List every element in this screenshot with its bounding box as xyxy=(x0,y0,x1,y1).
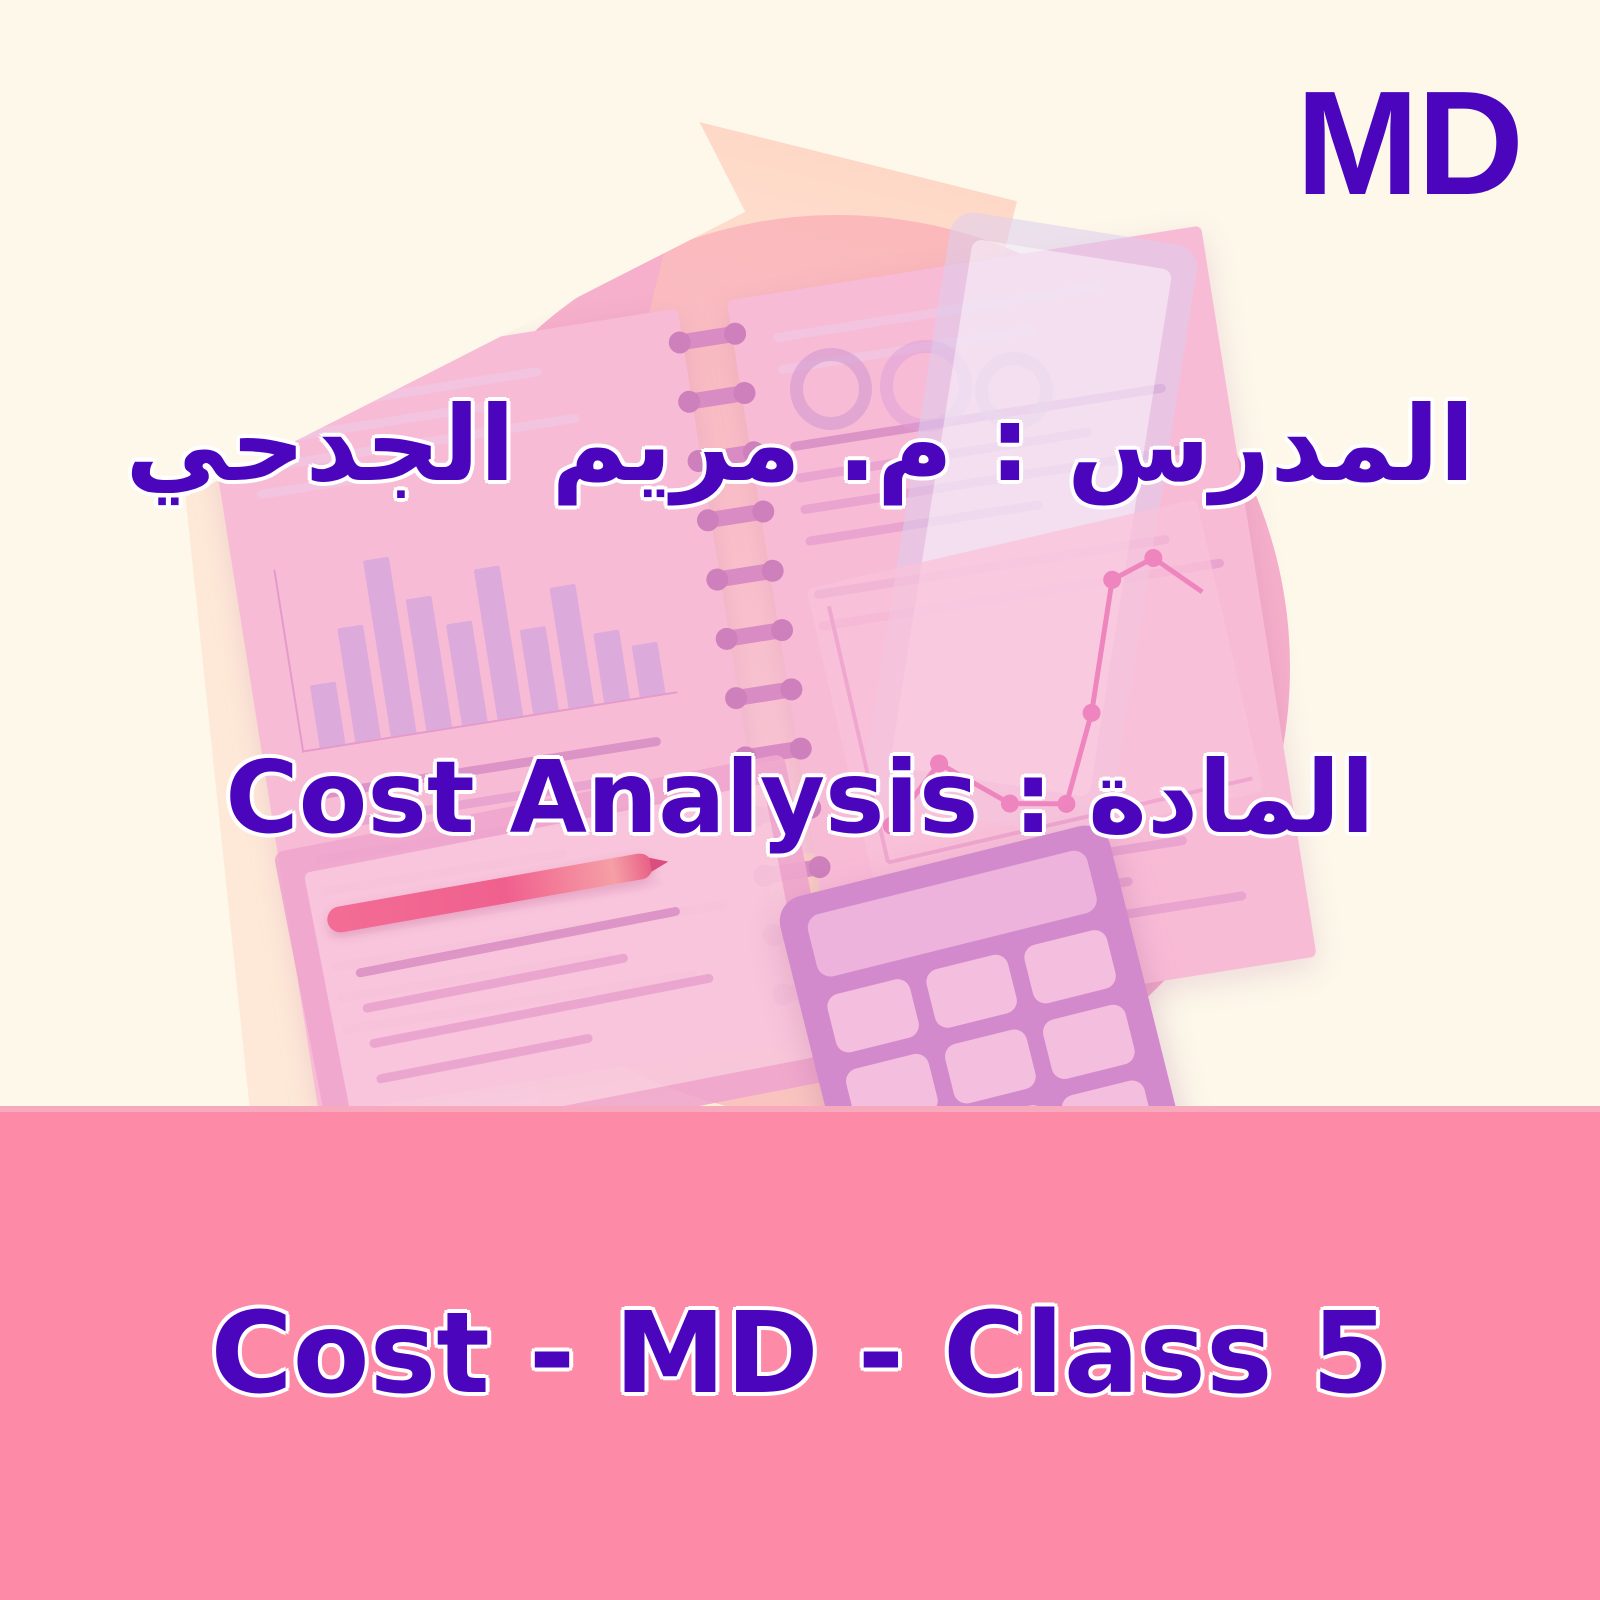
calculator-key xyxy=(1041,1002,1138,1081)
badge-md: MD xyxy=(1296,70,1522,218)
course-card: MD المدرس : م. مريم الجدحي المادة : Cost… xyxy=(0,0,1600,1600)
subject-line: المادة : Cost Analysis xyxy=(0,745,1600,850)
teacher-line: المدرس : م. مريم الجدحي xyxy=(0,390,1600,499)
calculator-key xyxy=(923,952,1020,1031)
calculator-key xyxy=(942,1027,1039,1106)
bar-chart xyxy=(273,510,677,752)
calculator-key xyxy=(825,977,922,1056)
footer-title: Cost - MD - Class 5 xyxy=(0,1296,1600,1414)
calculator-key xyxy=(1022,927,1119,1006)
